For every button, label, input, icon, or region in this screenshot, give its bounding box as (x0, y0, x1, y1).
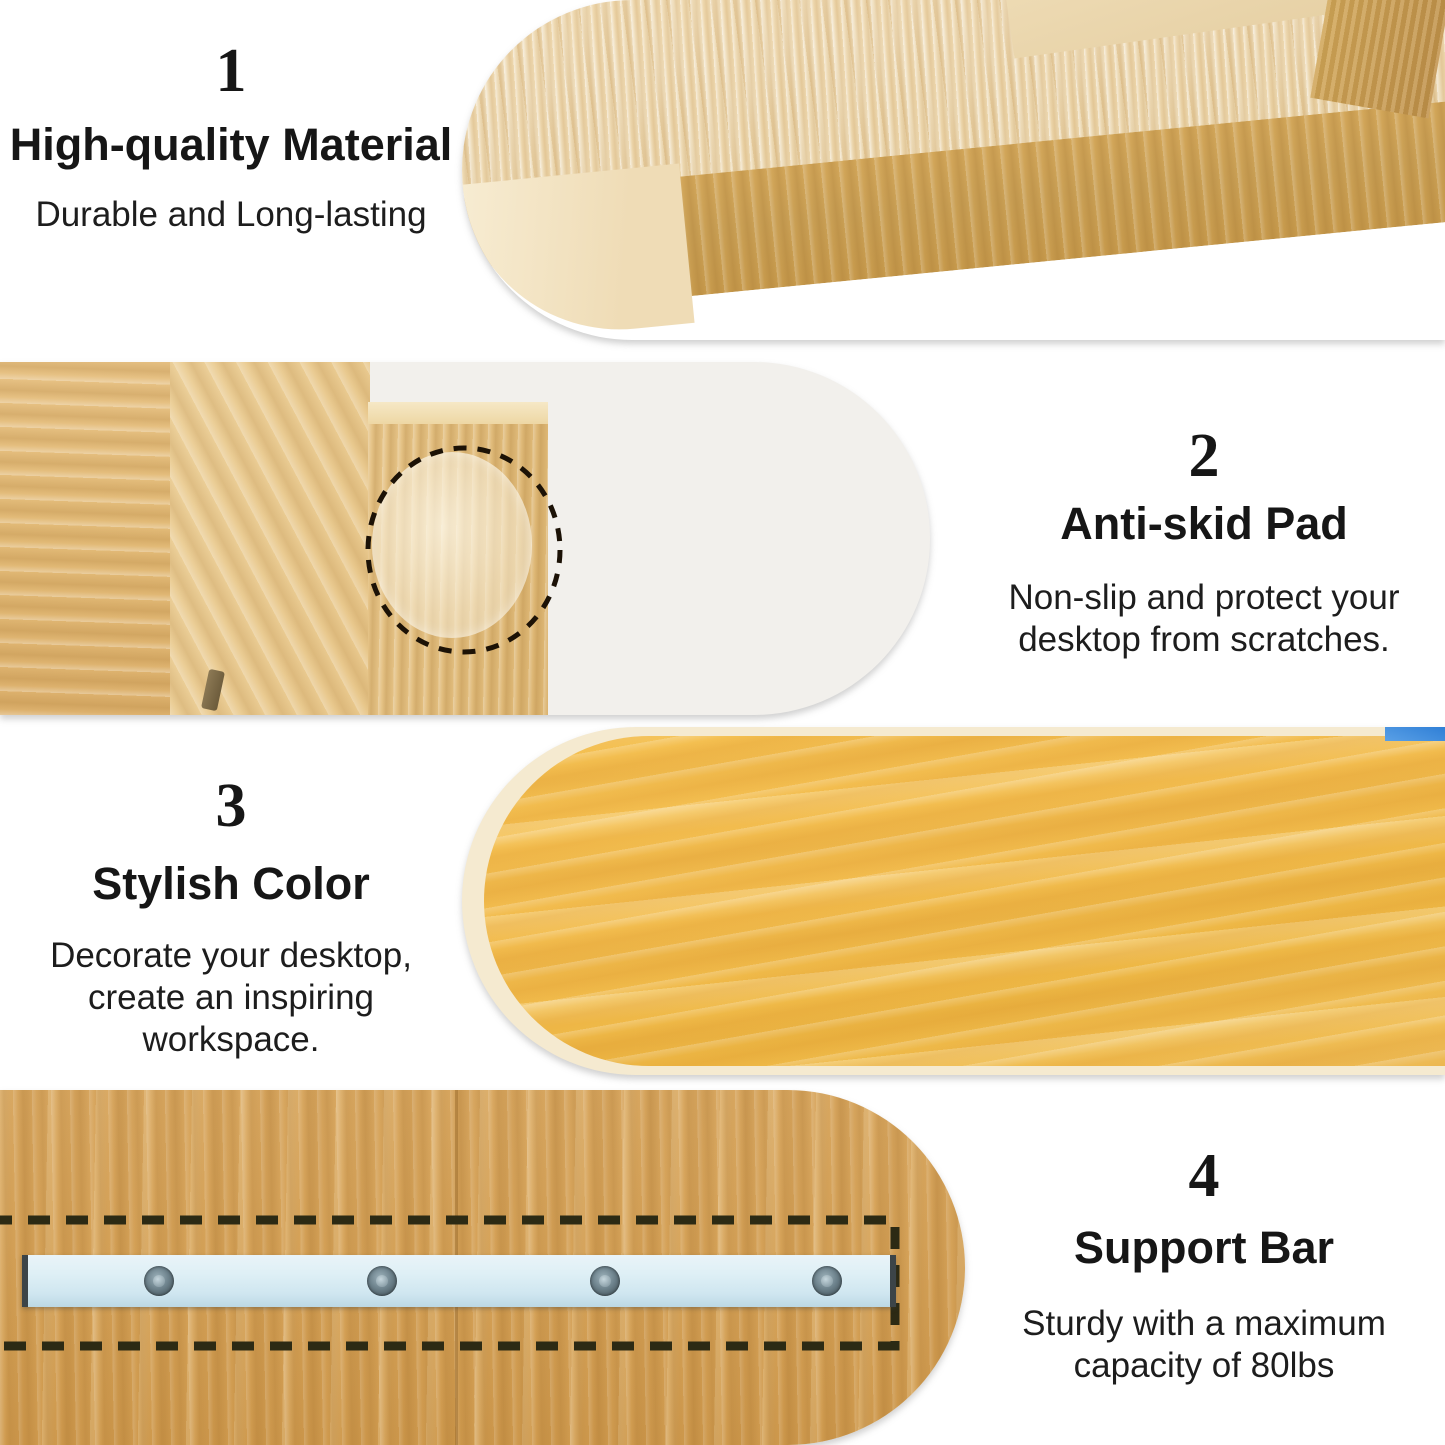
feature-1-image (462, 0, 1445, 340)
feature-4-number: 4 (963, 1145, 1445, 1207)
feature-4-title: Support Bar (963, 1223, 1445, 1273)
board-rounded-lip (462, 164, 695, 340)
support-bar-screw (812, 1266, 842, 1296)
support-bar-screw (367, 1266, 397, 1296)
feature-4-image (0, 1090, 965, 1445)
blue-corner-accent (1385, 727, 1445, 741)
support-bar-screw (144, 1266, 174, 1296)
feature-2-title: Anti-skid Pad (963, 499, 1445, 549)
feature-3-text-block: 3 Stylish Color Decorate your desktop, c… (0, 775, 462, 1061)
metal-support-bar (22, 1255, 896, 1307)
golden-wood-board (484, 736, 1445, 1066)
highlight-dashed-ellipse (364, 444, 564, 656)
feature-2-number: 2 (963, 425, 1445, 487)
feature-2-image (0, 362, 930, 715)
feature-3-number: 3 (0, 775, 462, 837)
feature-2-text-block: 2 Anti-skid Pad Non-slip and protect you… (963, 425, 1445, 661)
feature-2-description-line-2: desktop from scratches. (963, 619, 1445, 661)
feature-4-description-line-1: Sturdy with a maximum (963, 1303, 1445, 1345)
product-feature-infographic: 1 High-quality Material Durable and Long… (0, 0, 1445, 1445)
feature-1-description: Durable and Long-lasting (0, 194, 462, 236)
feature-3-title: Stylish Color (0, 859, 462, 909)
feature-3-description-line-2: create an inspiring workspace. (0, 977, 462, 1061)
feature-1-title: High-quality Material (0, 120, 462, 170)
feature-3-image (462, 727, 1445, 1075)
feature-1-number: 1 (0, 40, 462, 102)
feature-2-description-line-1: Non-slip and protect your (963, 577, 1445, 619)
feature-4-description-line-2: capacity of 80lbs (963, 1345, 1445, 1387)
shelf-board-edge (0, 362, 178, 715)
feature-1-text-block: 1 High-quality Material Durable and Long… (0, 40, 462, 236)
support-bar-screw (590, 1266, 620, 1296)
support-leg-vertical (1310, 0, 1445, 118)
feature-4-text-block: 4 Support Bar Sturdy with a maximum capa… (963, 1145, 1445, 1387)
leg-side-face (170, 362, 370, 715)
feature-3-description-line-1: Decorate your desktop, (0, 935, 462, 977)
